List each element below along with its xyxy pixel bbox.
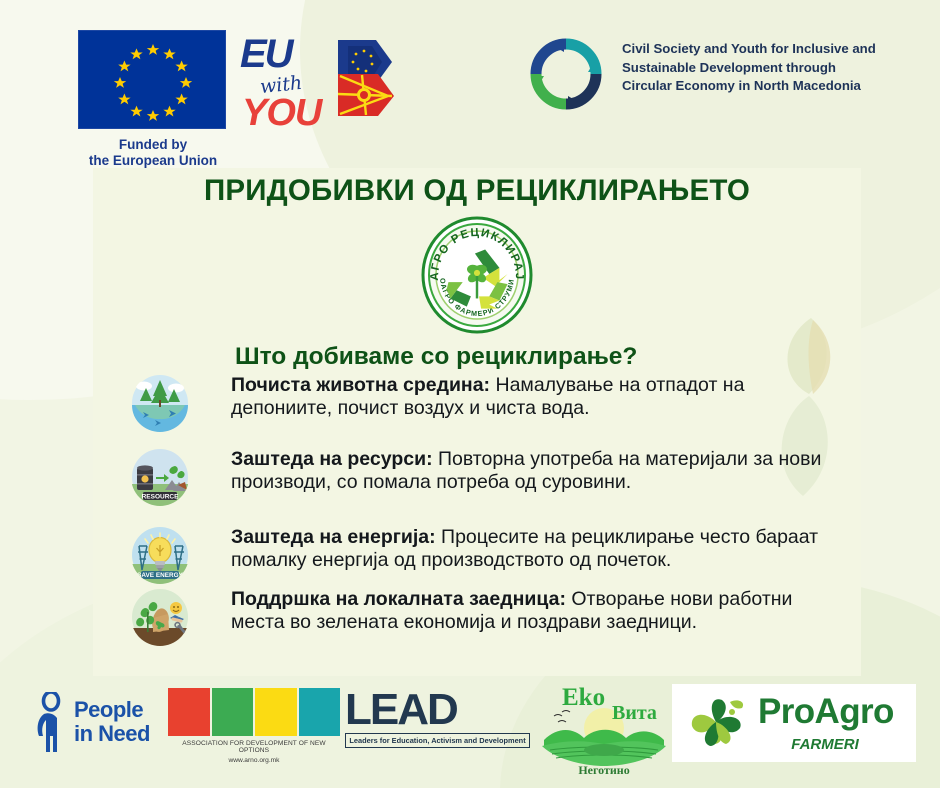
benefit-text: Заштеда на ресурси: Повторна употреба на… (231, 448, 847, 494)
benefit-heading: Поддршка на локалната заедница: (231, 588, 566, 610)
benefit-heading: Заштеда на ресурси: (231, 448, 433, 470)
page-title: ПРИДОБИВКИ ОД РЕЦИКЛИРАЊЕТО (93, 174, 861, 208)
project-text-line1: Civil Society and Youth for Inclusive an… (622, 40, 922, 59)
eu-with-you-logo: EU with YOU (240, 30, 390, 126)
project-text-line3: Circular Economy in North Macedonia (622, 77, 922, 96)
arno-bar-green (212, 688, 254, 736)
macedonia-flag-arrow-icon (336, 36, 394, 120)
pin-line1: People (74, 698, 150, 722)
person-figure-icon (32, 692, 68, 754)
eko-text: Eko (562, 684, 605, 712)
lead-logo: LEAD Leaders for Education, Activism and… (345, 690, 530, 748)
eu-stars-icon (79, 31, 227, 130)
eko-vita-logo: Eko Вита Неготино (540, 684, 668, 776)
eu-with-you-you-text: YOU (242, 92, 321, 135)
section-subtitle: Што добиваме со рециклирање? (235, 343, 637, 371)
project-text-line2: Sustainable Development through (622, 59, 922, 78)
people-in-need-logo: People in Need (32, 690, 162, 760)
arno-url[interactable]: www.arno.org.mk (168, 757, 340, 764)
save-energy-icon: SAVE ENERGY (131, 526, 189, 584)
benefit-item: RESOURCE Заштеда на ресурси: Повторна уп… (131, 448, 847, 510)
proagro-logo: ProAgro FARMERI (672, 684, 916, 762)
arno-color-bars-icon (168, 688, 340, 736)
arno-logo: ASSOCIATION FOR DEVELOPMENT OF NEW OPTIO… (168, 688, 340, 764)
arno-bar-red (168, 688, 210, 736)
eu-with-you-eu-text: EU (240, 32, 292, 77)
benefits-list: Почиста животна средина: Намалување на о… (131, 368, 847, 650)
project-logo-text: Civil Society and Youth for Inclusive an… (622, 40, 922, 96)
people-in-need-text: People in Need (74, 698, 150, 746)
benefit-item: Почиста животна средина: Намалување на о… (131, 374, 847, 436)
benefit-heading: Почиста животна средина: (231, 374, 490, 396)
eu-caption-line2: the European Union (78, 153, 228, 169)
eu-funding-block: Funded by the European Union (78, 30, 228, 170)
local-community-icon (131, 588, 189, 646)
eko-vita-city: Неготино (540, 763, 668, 778)
benefit-item: Поддршка на локалната заедница: Отворање… (131, 588, 847, 650)
arno-bar-yellow (255, 688, 297, 736)
clean-environment-icon (131, 374, 189, 432)
eu-funding-caption: Funded by the European Union (78, 137, 228, 170)
circular-economy-ring-icon (528, 36, 604, 112)
arno-bar-teal (299, 688, 341, 736)
pin-line2: in Need (74, 722, 150, 746)
lead-caption: Leaders for Education, Activism and Deve… (345, 733, 530, 748)
proagro-wordmark: ProAgro (758, 692, 894, 732)
eu-caption-line1: Funded by (78, 137, 228, 153)
footer-partner-logos: People in Need ASSOCIATION FOR DEVELOPME… (0, 676, 940, 788)
agro-recycle-logo: АГРО РЕЦИКЛИРАЈ ПРОАГРО ФАРМЕРИ СТРУМИЦА (421, 216, 533, 334)
icon-caption: SAVE ENERGY (137, 572, 183, 579)
content-panel: ПРИДОБИВКИ ОД РЕЦИКЛИРАЊЕТО АГРО РЕЦИКЛИ… (93, 168, 861, 676)
benefit-text: Заштеда на енергија: Процесите на рецикл… (231, 526, 847, 572)
icon-caption: RESOURCE (142, 494, 180, 501)
benefit-text: Поддршка на локалната заедница: Отворање… (231, 588, 847, 634)
benefit-text: Почиста животна средина: Намалување на о… (231, 374, 847, 420)
benefit-item: SAVE ENERGY Заштеда на енергија: Процеси… (131, 526, 847, 588)
benefit-heading: Заштеда на енергија: (231, 526, 436, 548)
lead-wordmark: LEAD (345, 690, 530, 730)
arno-caption: ASSOCIATION FOR DEVELOPMENT OF NEW OPTIO… (168, 740, 340, 754)
eu-flag-icon (78, 30, 226, 129)
proagro-subtitle: FARMERI (672, 736, 916, 753)
resource-saving-icon: RESOURCE (131, 448, 189, 506)
vita-text: Вита (612, 702, 657, 725)
header: Funded by the European Union EU with YOU (0, 0, 940, 168)
